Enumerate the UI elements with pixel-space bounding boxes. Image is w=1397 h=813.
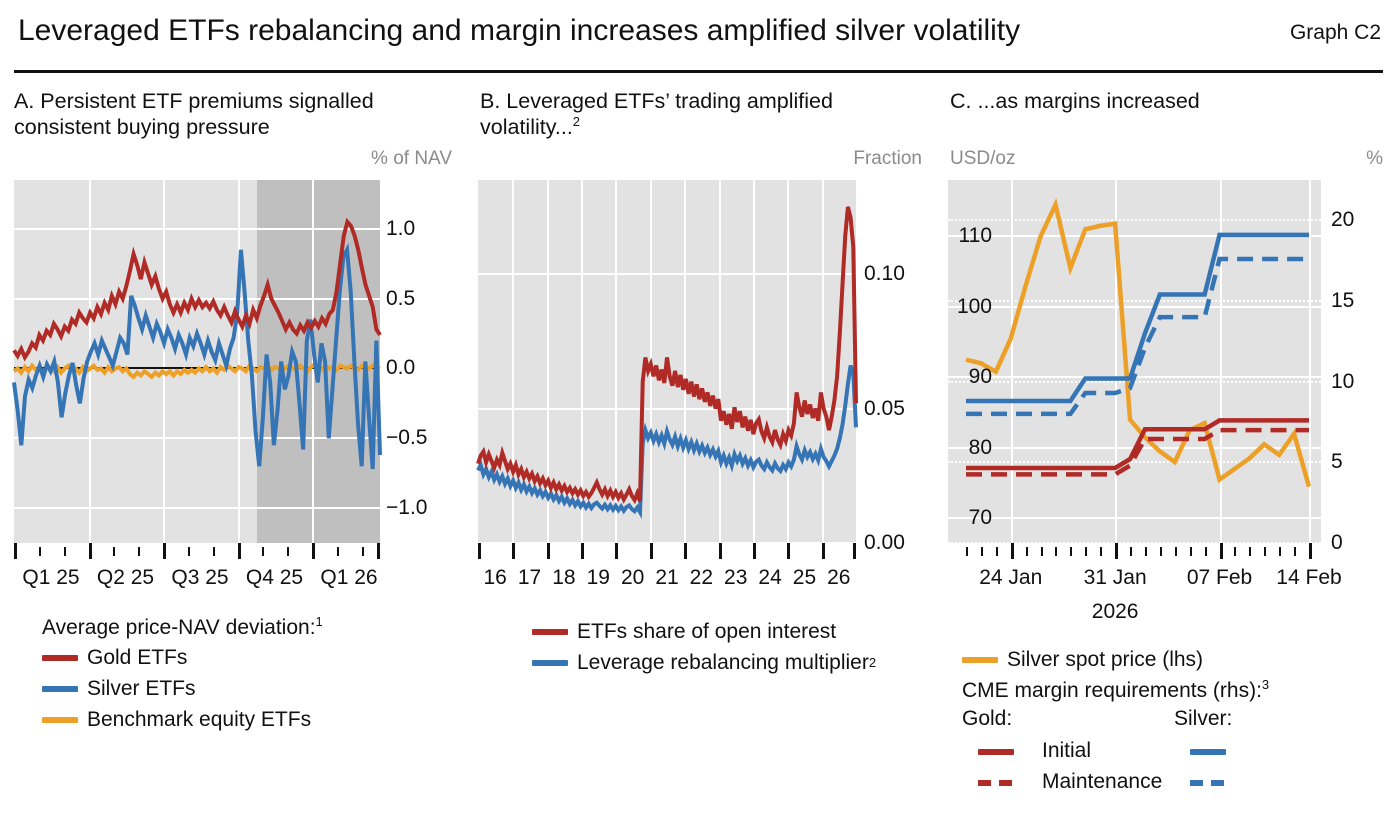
panel-c-tick-minor xyxy=(1026,547,1028,556)
panel-a-y-tick-label: 0.0 xyxy=(386,356,415,380)
panel-c-legend-gold-header: Gold: xyxy=(962,707,1012,731)
panel-c-tick-major xyxy=(1115,543,1118,559)
panel-a-legend-title-text: Average price-NAV deviation: xyxy=(42,616,316,639)
panel-c-y-tick-label-right: 5 xyxy=(1331,450,1343,474)
panel-b-y-tick-label: 0.00 xyxy=(864,531,905,555)
panel-a-tick-major xyxy=(312,543,315,559)
panel-b-title: B. Leveraged ETFs’ trading amplified vol… xyxy=(480,88,920,140)
panel-b-tick-major xyxy=(787,543,790,559)
panel-c-y-tick-label-right: 15 xyxy=(1331,289,1354,313)
panel-b-x-tick-label: 24 xyxy=(758,566,781,590)
panel-b-title-footnote: 2 xyxy=(573,114,580,129)
legend-swatch-orange-icon xyxy=(42,717,78,723)
graph-id-label: Graph C2 xyxy=(1290,21,1381,45)
panel-c-plot-area xyxy=(948,180,1321,543)
panel-b-y-tick-label: 0.05 xyxy=(864,397,905,421)
panel-a-legend-item: Benchmark equity ETFs xyxy=(42,704,323,735)
panel-c-title: C. ...as margins increased xyxy=(950,88,1380,114)
panel-a-tick-major xyxy=(377,543,380,559)
panel-a-legend-item: Silver ETFs xyxy=(42,673,323,704)
panel-a-x-tick-label: Q2 25 xyxy=(97,566,154,590)
panel-a-legend: Average price-NAV deviation:1 Gold ETFsS… xyxy=(42,616,323,735)
panel-c-tick-minor xyxy=(1234,547,1236,556)
panel-a-unit: % of NAV xyxy=(371,148,452,170)
panel-c-legend-margin-title-text: CME margin requirements (rhs): xyxy=(962,679,1262,702)
panel-a-tick-major xyxy=(89,543,92,559)
graph-page: Leveraged ETFs rebalancing and margin in… xyxy=(0,0,1397,813)
panel-a-title: A. Persistent ETF premiums signalled con… xyxy=(14,88,454,140)
panel-c-legend-column-headers: Gold: Silver: xyxy=(962,705,1269,737)
panel-b-x-ticks xyxy=(478,543,856,559)
legend-swatch-blue-icon xyxy=(42,686,78,692)
panel-c-line-silver-maintenance-margin-rhs- xyxy=(966,259,1309,414)
panel-b-line-leverage-rebalancing-multiplier xyxy=(478,366,856,513)
panel-b-legend-label: ETFs share of open interest xyxy=(577,620,836,644)
panel-a-tick-minor xyxy=(362,547,364,556)
panel-b-title-line2: volatility... xyxy=(480,115,573,139)
panel-c-x-tick-label: 24 Jan xyxy=(979,566,1042,590)
panel-a-tick-minor xyxy=(213,547,215,556)
panel-a-title-line1: A. Persistent ETF premiums signalled xyxy=(14,89,374,113)
panel-c-legend-style-rows: InitialMaintenance xyxy=(962,737,1269,799)
panel-c-tick-minor xyxy=(1145,547,1147,556)
panel-a-legend-label: Gold ETFs xyxy=(87,646,187,670)
panel-a-title-line2: consistent buying pressure xyxy=(14,115,270,139)
panel-c-legend-margin-footnote: 3 xyxy=(1262,677,1269,692)
panel-c-y-tick-label-right: 10 xyxy=(1331,370,1354,394)
panel-b-x-tick-label: 20 xyxy=(621,566,644,590)
panel-c-y-tick-label-left: 90 xyxy=(936,365,992,389)
panel-c-y-tick-label-left: 80 xyxy=(936,436,992,460)
panel-c-y-tick-label-left: 70 xyxy=(936,506,992,530)
panel-c-tick-minor xyxy=(996,547,998,556)
panel-c-y-tick-label-left: 100 xyxy=(936,295,992,319)
panel-b-tick-major xyxy=(753,543,756,559)
panel-b-tick-major xyxy=(719,543,722,559)
legend-swatch-gold-solid-icon xyxy=(978,749,1014,755)
panel-a-tick-minor xyxy=(188,547,190,556)
header: Leveraged ETFs rebalancing and margin in… xyxy=(0,0,1397,74)
panel-c-tick-minor xyxy=(1160,547,1162,556)
legend-swatch-red-icon xyxy=(532,629,568,635)
panel-b-tick-major xyxy=(650,543,653,559)
panel-a-tick-minor xyxy=(337,547,339,556)
panel-a-tick-major xyxy=(14,543,17,559)
panel-a-x-tick-label: Q3 25 xyxy=(171,566,228,590)
panel-c-tick-minor xyxy=(1249,547,1251,556)
panel-c-tick-major xyxy=(1011,543,1014,559)
panel-c-y-tick-label-left: 110 xyxy=(936,224,992,248)
panel-b: B. Leveraged ETFs’ trading amplified vol… xyxy=(466,88,936,813)
panel-c-tick-minor xyxy=(1264,547,1266,556)
panel-c-tick-major xyxy=(1309,543,1312,559)
panel-b-x-tick-label: 16 xyxy=(483,566,506,590)
panel-c-tick-minor xyxy=(981,547,983,556)
panel-c-legend-label: Maintenance xyxy=(1042,770,1162,794)
panel-b-unit: Fraction xyxy=(853,148,922,170)
panel-b-x-tick-label: 21 xyxy=(655,566,678,590)
panel-a-legend-rows: Gold ETFsSilver ETFsBenchmark equity ETF… xyxy=(42,642,323,735)
header-divider xyxy=(14,70,1383,73)
panel-a-y-tick-label: 1.0 xyxy=(386,217,415,241)
panel-c-legend-label: Initial xyxy=(1042,739,1091,763)
panel-a-tick-minor xyxy=(39,547,41,556)
panel-c-tick-minor xyxy=(1130,547,1132,556)
panel-c-legend-spot-row: Silver spot price (lhs) xyxy=(962,644,1269,675)
legend-swatch-silver-solid-icon xyxy=(1190,749,1226,755)
panel-c-tick-minor xyxy=(1100,547,1102,556)
panel-c-y-tick-label-right: 20 xyxy=(1331,208,1354,232)
panel-a-tick-minor xyxy=(138,547,140,556)
legend-swatch-red-icon xyxy=(42,655,78,661)
panel-a-y-tick-label: −1.0 xyxy=(386,496,427,520)
panel-c-tick-minor xyxy=(1070,547,1072,556)
panel-b-tick-major xyxy=(822,543,825,559)
legend-swatch-blue-icon xyxy=(532,660,568,666)
panel-b-x-tick-label: 18 xyxy=(552,566,575,590)
panel-c-legend-margin-title: CME margin requirements (rhs):3 xyxy=(962,679,1269,703)
panel-a-y-tick-label: 0.5 xyxy=(386,287,415,311)
panel-b-tick-major xyxy=(684,543,687,559)
panel-b-x-tick-label: 19 xyxy=(587,566,610,590)
panel-c-x-ticks xyxy=(948,543,1321,559)
panel-c-title-line1: C. ...as margins increased xyxy=(950,89,1200,113)
panel-b-series xyxy=(478,180,856,543)
panel-a-plot-area xyxy=(14,180,380,543)
panel-a-tick-minor xyxy=(287,547,289,556)
panel-b-x-tick-label: 26 xyxy=(827,566,850,590)
legend-swatch-silver-dashed-icon xyxy=(1190,780,1226,786)
panel-c-tick-minor xyxy=(1205,547,1207,556)
panel-a-legend-item: Gold ETFs xyxy=(42,642,323,673)
panel-c-tick-minor xyxy=(1055,547,1057,556)
panel-b-tick-major xyxy=(853,543,856,559)
panel-a-line-silver-etfs xyxy=(14,250,380,469)
panel-a-tick-minor xyxy=(64,547,66,556)
panel-c-legend-item: Maintenance xyxy=(962,768,1269,799)
panel-c-tick-minor xyxy=(1085,547,1087,556)
panel-c-series xyxy=(948,180,1321,543)
panel-b-legend-label: Leverage rebalancing multiplier xyxy=(577,651,869,675)
panel-c-tick-major xyxy=(1220,543,1223,559)
panel-b-x-tick-label: 25 xyxy=(793,566,816,590)
panel-b-tick-major xyxy=(615,543,618,559)
panel-b-legend-rows: ETFs share of open interestLeverage reba… xyxy=(532,616,876,678)
panel-c-y-tick-label-right: 0 xyxy=(1331,531,1343,555)
panel-a-legend-label: Benchmark equity ETFs xyxy=(87,708,311,732)
panel-a-x-ticks xyxy=(14,543,380,559)
panel-a-legend-title-footnote: 1 xyxy=(316,614,323,629)
panel-a-x-tick-label: Q1 25 xyxy=(22,566,79,590)
panel-b-tick-major xyxy=(547,543,550,559)
panel-c-x-tick-label: 07 Feb xyxy=(1187,566,1252,590)
panel-c-tick-minor xyxy=(1041,547,1043,556)
panel-c-x-tick-label: 31 Jan xyxy=(1084,566,1147,590)
panel-b-x-tick-label: 17 xyxy=(518,566,541,590)
panel-a: A. Persistent ETF premiums signalled con… xyxy=(0,88,466,813)
panel-c-tick-minor xyxy=(1175,547,1177,556)
panel-b-y-tick-label: 0.10 xyxy=(864,262,905,286)
silver-spot-swatch-icon xyxy=(962,657,998,663)
panel-b-tick-major xyxy=(581,543,584,559)
panel-c-tick-minor xyxy=(1279,547,1281,556)
panel-b-x-tick-label: 23 xyxy=(724,566,747,590)
panel-b-legend: ETFs share of open interestLeverage reba… xyxy=(532,616,876,678)
panel-b-legend-item: ETFs share of open interest xyxy=(532,616,876,647)
panel-b-tick-major xyxy=(478,543,481,559)
panel-b-tick-major xyxy=(512,543,515,559)
panel-c-tick-minor xyxy=(966,547,968,556)
panel-c-tick-minor xyxy=(1190,547,1192,556)
panel-b-x-tick-label: 22 xyxy=(690,566,713,590)
panel-c-legend: Silver spot price (lhs) CME margin requi… xyxy=(962,644,1269,799)
panel-c-x-axis-year: 2026 xyxy=(1092,600,1139,624)
panel-c-legend-item: Initial xyxy=(962,737,1269,768)
panel-a-tick-major xyxy=(238,543,241,559)
panel-c-tick-minor xyxy=(1294,547,1296,556)
panel-c-x-tick-label: 14 Feb xyxy=(1276,566,1341,590)
panel-c-legend-spot-label: Silver spot price (lhs) xyxy=(1007,648,1203,672)
legend-swatch-gold-dashed-icon xyxy=(978,780,1014,786)
panel-a-x-tick-label: Q1 26 xyxy=(320,566,377,590)
panel-a-y-tick-label: −0.5 xyxy=(386,426,427,450)
panel-c-unit-left: USD/oz xyxy=(950,148,1015,170)
panel-b-plot-area xyxy=(478,180,856,543)
panel-a-series xyxy=(14,180,380,543)
panel-a-tick-minor xyxy=(113,547,115,556)
panel-a-tick-major xyxy=(163,543,166,559)
panel-a-legend-title: Average price-NAV deviation:1 xyxy=(42,616,323,640)
panel-b-legend-item: Leverage rebalancing multiplier2 xyxy=(532,647,876,678)
panel-c: C. ...as margins increased USD/oz % 1101… xyxy=(936,88,1397,813)
panel-a-tick-minor xyxy=(262,547,264,556)
panel-c-unit-right: % xyxy=(1366,148,1383,170)
panel-a-legend-label: Silver ETFs xyxy=(87,677,196,701)
page-title: Leveraged ETFs rebalancing and margin in… xyxy=(18,14,1020,48)
panel-c-legend-silver-header: Silver: xyxy=(1174,707,1232,731)
panel-b-title-line1: B. Leveraged ETFs’ trading amplified xyxy=(480,89,833,113)
panel-a-x-tick-label: Q4 25 xyxy=(246,566,303,590)
